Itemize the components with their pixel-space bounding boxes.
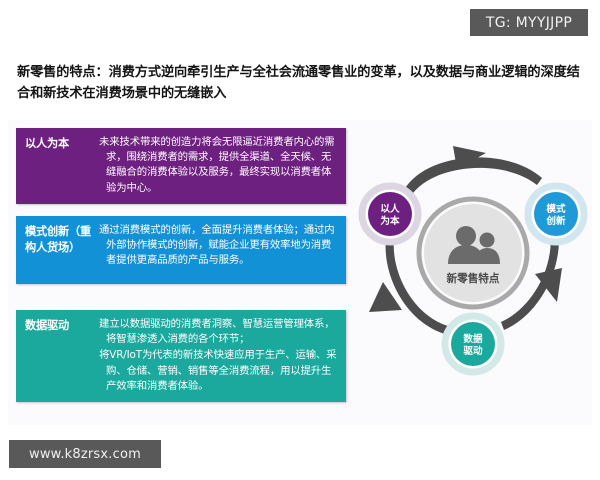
node-label-line2: 为本: [380, 215, 400, 227]
tg-badge: TG: MYYJJPP: [470, 9, 588, 36]
card-bullet: 将VR/IoT为代表的新技术快速应用于生产、运输、采购、仓储、营销、销售等全消费…: [99, 348, 338, 394]
card-title: 数据驱动: [25, 317, 99, 395]
feature-card-model-innovation: 模式创新（重构人货场） 通过消费模式的创新，全面提升消费者体验；通过内外部协作模…: [16, 216, 346, 284]
node-label-line2: 创新: [545, 215, 566, 227]
center-label: 新零售特点: [447, 272, 500, 285]
cycle-diagram: 新零售特点 以人 为本 模式 创新 数据 驱动: [356, 122, 590, 384]
site-watermark: www.k8zrsx.com: [9, 440, 161, 468]
card-title: 以人为本: [25, 135, 99, 197]
feature-card-data-driven: 数据驱动 建立以数据驱动的消费者洞察、智慧运营管理体系，将智慧渗透入消费的各个环…: [16, 310, 346, 402]
card-title: 模式创新（重构人货场）: [25, 223, 99, 277]
card-bullet: 未来技术带来的创造力将会无限逼近消费者内心的需求，围绕消费者的需求，提供全渠道、…: [99, 135, 338, 196]
arrow-top: [404, 157, 542, 196]
card-bullet: 建立以数据驱动的消费者洞察、智慧运营管理体系，将智慧渗透入消费的各个环节；: [99, 317, 338, 347]
node-data-driven[interactable]: 数据 驱动: [445, 316, 501, 372]
node-people-first[interactable]: 以人 为本: [362, 186, 418, 242]
node-label-line1: 模式: [546, 203, 566, 215]
card-body: 建立以数据驱动的消费者洞察、智慧运营管理体系，将智慧渗透入消费的各个环节； 将V…: [99, 317, 338, 395]
card-bullet: 通过消费模式的创新，全面提升消费者体验；通过内外部协作模式的创新，赋能企业更有效…: [99, 223, 338, 269]
node-label-line2: 驱动: [463, 346, 483, 357]
card-body: 通过消费模式的创新，全面提升消费者体验；通过内外部协作模式的创新，赋能企业更有效…: [99, 223, 338, 277]
page-title: 新零售的特点：消费方式逆向牵引生产与全社会流通零售业的变革，以及数据与商业逻辑的…: [17, 62, 583, 105]
card-body: 未来技术带来的创造力将会无限逼近消费者内心的需求，围绕消费者的需求，提供全渠道、…: [99, 135, 338, 197]
content-stage: 以人为本 未来技术带来的创造力将会无限逼近消费者内心的需求，围绕消费者的需求，提…: [8, 120, 592, 425]
node-label-line1: 数据: [462, 333, 483, 345]
node-model-innovation[interactable]: 模式 创新: [528, 186, 584, 242]
center-node: 新零售特点: [419, 199, 527, 307]
feature-card-people-first: 以人为本 未来技术带来的创造力将会无限逼近消费者内心的需求，围绕消费者的需求，提…: [16, 128, 346, 204]
node-label-line1: 以人: [380, 203, 400, 215]
